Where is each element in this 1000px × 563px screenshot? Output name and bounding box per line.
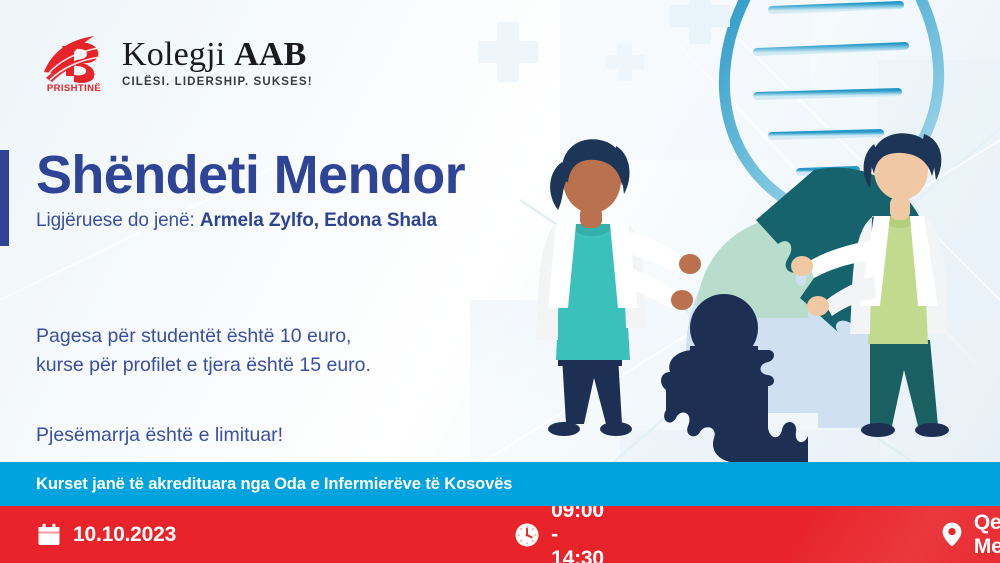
pricing-line-2: kurse për profilet e tjera është 15 euro… <box>36 351 371 380</box>
map-pin-icon <box>941 521 963 548</box>
event-location-value: Qendra Mediale <box>974 511 1000 559</box>
pricing-line-1: Pagesa për studentët është 10 euro, <box>36 322 371 351</box>
promotional-banner: PRISHTINË Kolegji AAB CILËSI. LIDERSHIP.… <box>0 0 1000 563</box>
aab-emblem-icon: PRISHTINË <box>38 32 110 94</box>
logo-name-bold: AAB <box>234 36 306 73</box>
event-date-value: 10.10.2023 <box>73 523 176 547</box>
logo-name: Kolegji AAB <box>122 38 313 72</box>
logo-tagline: CILËSI. LIDERSHIP. SUKSES! <box>122 77 313 89</box>
lecturers-names: Armela Zylfo, Edona Shala <box>200 210 437 231</box>
puzzle-head-svg <box>518 128 1000 468</box>
calendar-icon <box>36 522 62 548</box>
accreditation-text: Kurset janë të akredituara nga Oda e Inf… <box>0 475 512 494</box>
logo-wordmark: Kolegji AAB CILËSI. LIDERSHIP. SUKSES! <box>122 38 313 89</box>
event-time-value: 09:00 - 14:30 <box>551 506 604 563</box>
event-location: Qendra Mediale <box>941 511 1000 559</box>
accreditation-bar: Kurset janë të akredituara nga Oda e Inf… <box>0 462 1000 506</box>
mental-health-puzzle-illustration <box>518 128 1000 468</box>
clock-icon <box>514 522 540 548</box>
pricing-text: Pagesa për studentët është 10 euro, kurs… <box>36 322 371 380</box>
event-time: 09:00 - 14:30 <box>514 506 604 563</box>
lecturers-line: Ligjëruese do jenë: Armela Zylfo, Edona … <box>36 210 465 232</box>
aab-logo-mark: PRISHTINË <box>38 32 110 94</box>
medical-cross-icon <box>497 22 519 82</box>
medical-cross-icon <box>618 43 632 81</box>
page-title: Shëndeti Mendor <box>36 148 465 203</box>
aab-logo: PRISHTINË Kolegji AAB CILËSI. LIDERSHIP.… <box>38 32 313 94</box>
event-details-bar: 10.10.2023 <box>0 506 1000 563</box>
medical-cross-icon <box>689 0 711 44</box>
headline-block: Shëndeti Mendor Ligjëruese do jenë: Arme… <box>36 148 465 232</box>
event-date: 10.10.2023 <box>36 522 176 548</box>
svg-text:PRISHTINË: PRISHTINË <box>47 83 101 94</box>
left-accent-bar <box>0 150 9 246</box>
logo-name-light: Kolegji <box>122 36 234 73</box>
lecturers-prefix: Ligjëruese do jenë: <box>36 210 200 231</box>
limited-seats-note: Pjesëmarrja është e limituar! <box>36 424 283 447</box>
